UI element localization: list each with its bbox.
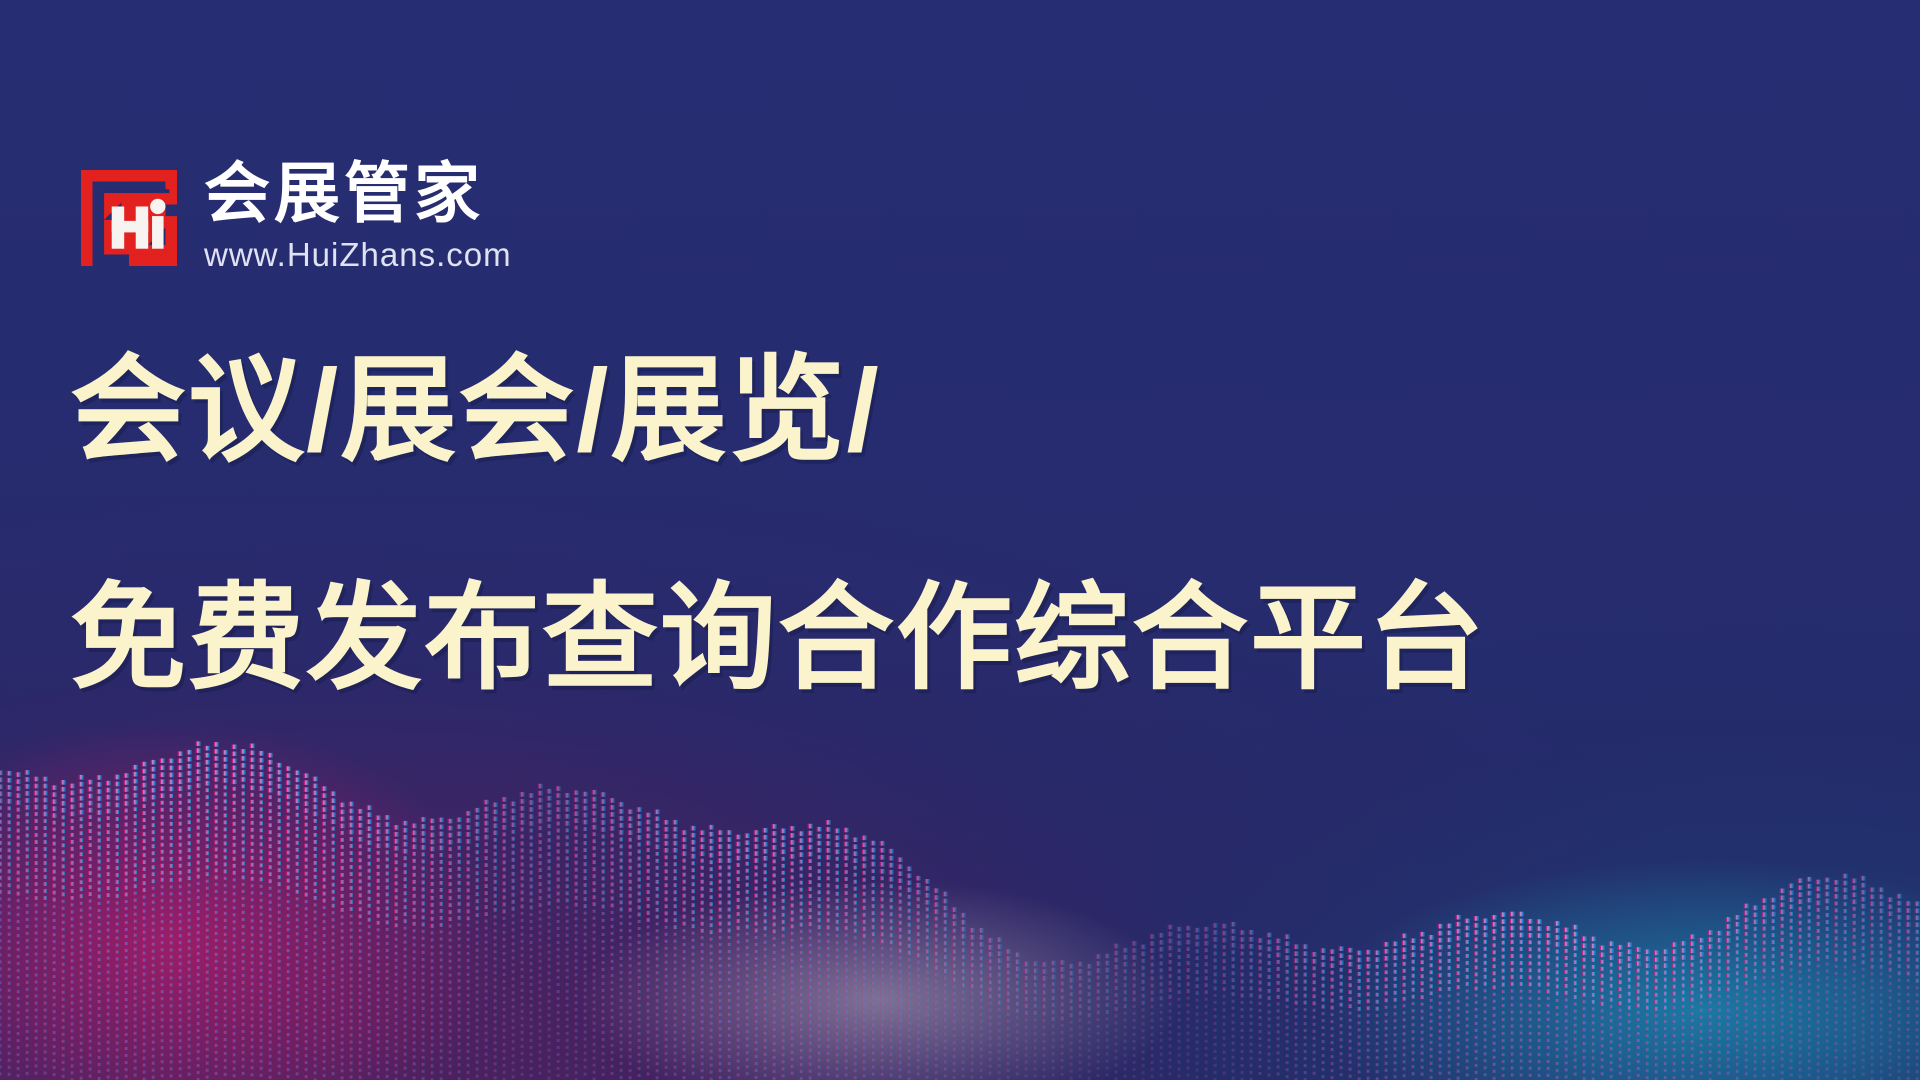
headline-block: 会议/展会/展览/ 免费发布查询合作综合平台 (70, 352, 1830, 696)
brand-wordmark: 会展管家 www.HuiZhans.com (204, 160, 512, 271)
brand-logo-lockup[interactable]: 会展管家 www.HuiZhans.com (80, 160, 512, 271)
headline-line-2: 免费发布查询合作综合平台 (70, 580, 1830, 696)
brand-name: 会展管家 (204, 160, 512, 226)
brand-url[interactable]: www.HuiZhans.com (204, 238, 512, 271)
promo-banner: 会展管家 www.HuiZhans.com 会议/展会/展览/ 免费发布查询合作… (0, 0, 1920, 1080)
hi-bracket-monogram-icon (80, 170, 178, 266)
headline-line-1: 会议/展会/展览/ (70, 352, 1830, 468)
